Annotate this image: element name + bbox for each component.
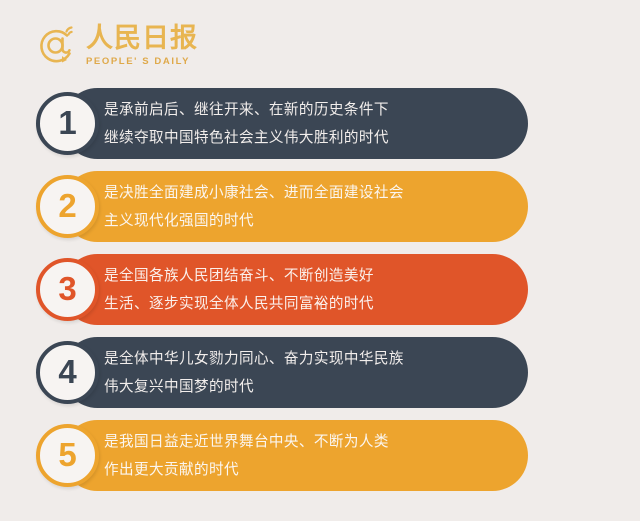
era-bar-1: 是承前启后、继往开来、在新的历史条件下 继续夺取中国特色社会主义伟大胜利的时代 — [62, 88, 528, 159]
era-text-line: 主义现代化强国的时代 — [104, 207, 498, 235]
era-number-badge-5: 5 — [36, 424, 99, 487]
logo-chinese-name: 人民日报 — [86, 25, 198, 53]
era-bar-5: 是我国日益走近世界舞台中央、不断为人类 作出更大贡献的时代 — [62, 420, 528, 491]
list-item: 是承前启后、继往开来、在新的历史条件下 继续夺取中国特色社会主义伟大胜利的时代 … — [0, 88, 640, 159]
era-text-line: 是全体中华儿女勠力同心、奋力实现中华民族 — [104, 345, 498, 373]
era-number: 2 — [58, 189, 76, 222]
era-text-line: 生活、逐步实现全体人民共同富裕的时代 — [104, 290, 498, 318]
era-list: 是承前启后、继往开来、在新的历史条件下 继续夺取中国特色社会主义伟大胜利的时代 … — [0, 88, 640, 491]
era-number-badge-1: 1 — [36, 92, 99, 155]
era-number: 3 — [58, 272, 76, 305]
era-text-line: 是决胜全面建成小康社会、进而全面建设社会 — [104, 179, 498, 207]
era-number-badge-2: 2 — [36, 175, 99, 238]
logo-wordmark: 人民日报 PEOPLE' S DAILY — [86, 25, 198, 66]
era-bar-2: 是决胜全面建成小康社会、进而全面建设社会 主义现代化强国的时代 — [62, 171, 528, 242]
list-item: 是决胜全面建成小康社会、进而全面建设社会 主义现代化强国的时代 2 — [0, 171, 640, 242]
era-bar-4: 是全体中华儿女勠力同心、奋力实现中华民族 伟大复兴中国梦的时代 — [62, 337, 528, 408]
era-text-line: 伟大复兴中国梦的时代 — [104, 373, 498, 401]
era-text-line: 是我国日益走近世界舞台中央、不断为人类 — [104, 428, 498, 456]
era-text-line: 继续夺取中国特色社会主义伟大胜利的时代 — [104, 124, 498, 152]
era-text-line: 是承前启后、继往开来、在新的历史条件下 — [104, 96, 498, 124]
brand-logo: 人民日报 PEOPLE' S DAILY — [34, 16, 198, 74]
logo-english-name: PEOPLE' S DAILY — [86, 56, 198, 67]
at-sign-speech-icon — [34, 22, 80, 68]
list-item: 是我国日益走近世界舞台中央、不断为人类 作出更大贡献的时代 5 — [0, 420, 640, 491]
era-number-badge-4: 4 — [36, 341, 99, 404]
era-number: 5 — [58, 438, 76, 471]
list-item: 是全体中华儿女勠力同心、奋力实现中华民族 伟大复兴中国梦的时代 4 — [0, 337, 640, 408]
era-text-line: 作出更大贡献的时代 — [104, 456, 498, 484]
era-bar-3: 是全国各族人民团结奋斗、不断创造美好 生活、逐步实现全体人民共同富裕的时代 — [62, 254, 528, 325]
era-number: 4 — [58, 355, 76, 388]
poster-canvas: 人民日报 PEOPLE' S DAILY 是承前启后、继往开来、在新的历史条件下… — [0, 0, 640, 521]
era-number: 1 — [58, 106, 76, 139]
era-number-badge-3: 3 — [36, 258, 99, 321]
list-item: 是全国各族人民团结奋斗、不断创造美好 生活、逐步实现全体人民共同富裕的时代 3 — [0, 254, 640, 325]
era-text-line: 是全国各族人民团结奋斗、不断创造美好 — [104, 262, 498, 290]
